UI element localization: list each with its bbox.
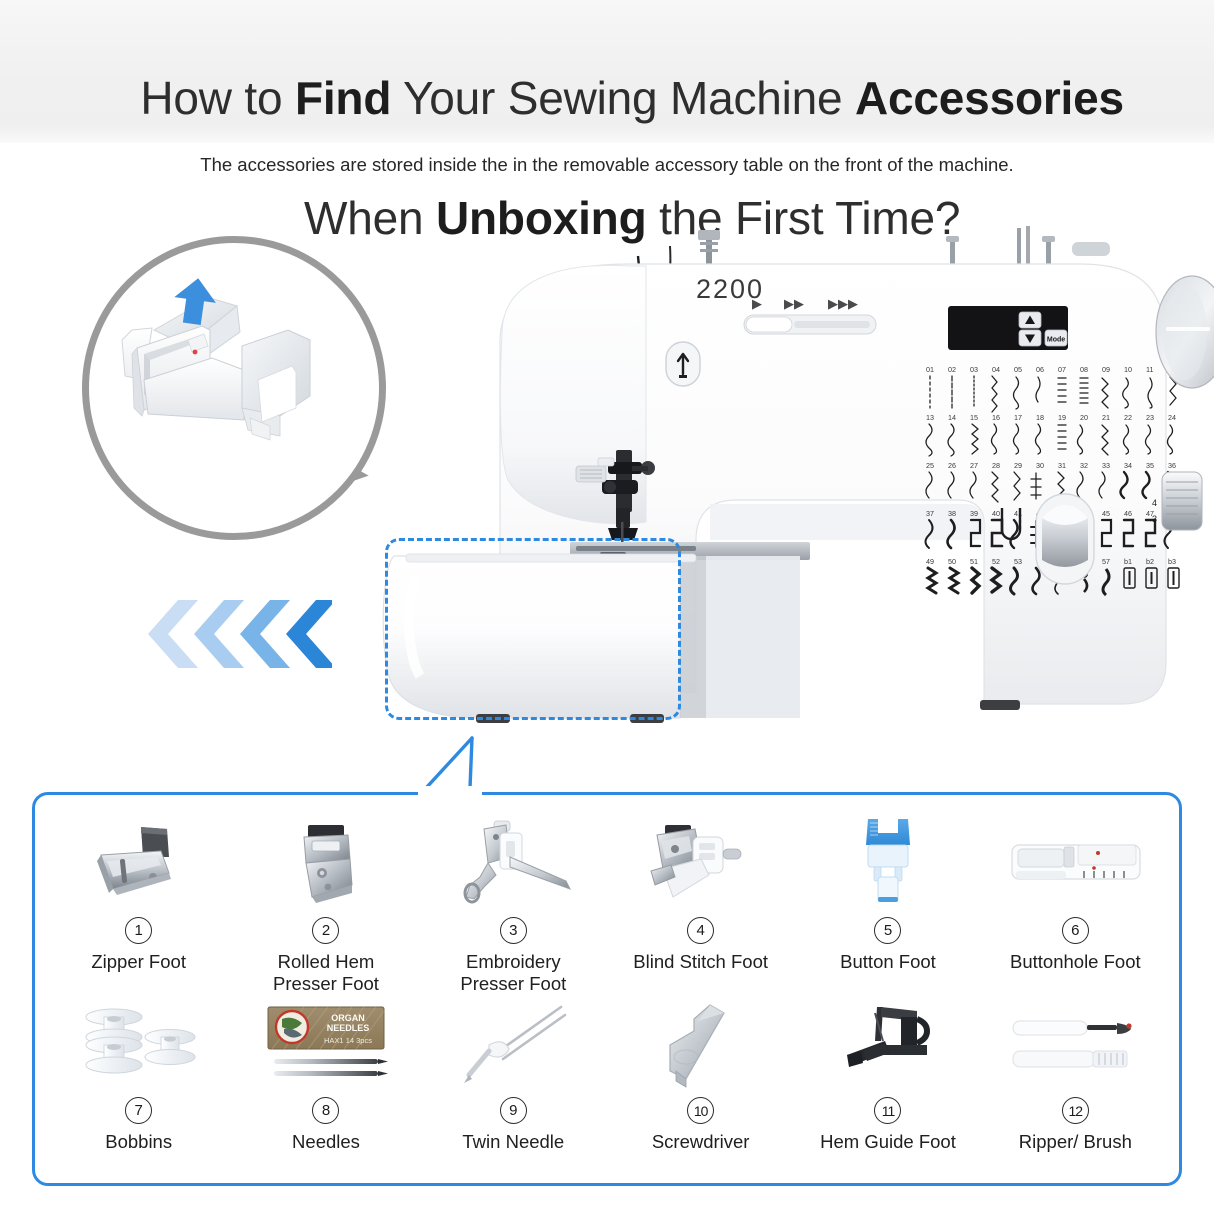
svg-text:b3: b3 bbox=[1168, 557, 1176, 566]
button-foot-icon bbox=[848, 813, 928, 913]
ripper-brush-icon bbox=[1005, 1001, 1145, 1093]
svg-text:3: 3 bbox=[1152, 514, 1157, 524]
accessory-label-2: Rolled Hem Presser Foot bbox=[273, 951, 379, 995]
buttonhole-foot-icon bbox=[1002, 813, 1148, 913]
chevron-2 bbox=[194, 600, 244, 668]
accessory-tray-illustration bbox=[92, 268, 362, 488]
blind-stitch-foot-icon bbox=[637, 813, 765, 913]
accessory-label-5: Button Foot bbox=[840, 951, 936, 973]
svg-text:05: 05 bbox=[1014, 365, 1022, 374]
title-line-1: How to Find Your Sewing Machine Accessor… bbox=[140, 72, 1124, 124]
svg-text:b2: b2 bbox=[1146, 557, 1154, 566]
accessory-label-9: Twin Needle bbox=[462, 1131, 564, 1153]
svg-text:53: 53 bbox=[1014, 557, 1022, 566]
svg-text:20: 20 bbox=[1080, 413, 1088, 422]
direction-chevrons bbox=[132, 598, 332, 670]
svg-text:30: 30 bbox=[1036, 461, 1044, 470]
accessory-number-11: 11 bbox=[874, 1097, 901, 1124]
accessory-label-11: Hem Guide Foot bbox=[820, 1131, 956, 1153]
svg-text:57: 57 bbox=[1102, 557, 1110, 566]
svg-text:14: 14 bbox=[948, 413, 956, 422]
chevron-4 bbox=[286, 600, 332, 668]
svg-text:35: 35 bbox=[1146, 461, 1154, 470]
accessory-item-9[interactable]: 9 Twin Needle bbox=[420, 995, 607, 1173]
accessory-number-9: 9 bbox=[500, 1097, 527, 1124]
svg-text:21: 21 bbox=[1102, 413, 1110, 422]
svg-text:11: 11 bbox=[1146, 365, 1153, 374]
seam-ripper bbox=[1013, 1021, 1132, 1035]
accessory-label-12: Ripper/ Brush bbox=[1019, 1131, 1132, 1153]
accessory-item-7[interactable]: 7 Bobbins bbox=[45, 995, 232, 1173]
needle-brand: ORGAN bbox=[331, 1013, 365, 1023]
chevron-3 bbox=[240, 600, 290, 668]
svg-text:51: 51 bbox=[970, 557, 978, 566]
svg-text:37: 37 bbox=[926, 509, 934, 518]
accessory-label-7: Bobbins bbox=[105, 1131, 172, 1153]
svg-text:27: 27 bbox=[970, 461, 978, 470]
svg-text:50: 50 bbox=[948, 557, 956, 566]
svg-text:17: 17 bbox=[1014, 413, 1022, 422]
svg-text:29: 29 bbox=[1014, 461, 1022, 470]
needles-box-icon: ORGAN NEEDLES HAX1 14 3pcs bbox=[256, 1001, 396, 1093]
svg-text:▶▶▶: ▶▶▶ bbox=[828, 296, 858, 311]
needle-spec: HAX1 14 3pcs bbox=[324, 1036, 372, 1045]
svg-text:09: 09 bbox=[1102, 365, 1110, 374]
svg-text:31: 31 bbox=[1058, 461, 1066, 470]
title-seg-accessories: Accessories bbox=[855, 72, 1124, 124]
accessory-label-10: Screwdriver bbox=[652, 1131, 750, 1153]
accessory-item-3[interactable]: 3 Embroidery Presser Foot bbox=[420, 807, 607, 995]
accessory-table-highlight bbox=[385, 538, 681, 720]
accessories-grid: 1 Zipper Foot bbox=[35, 795, 1179, 1183]
svg-text:01: 01 bbox=[926, 365, 934, 374]
svg-text:24: 24 bbox=[1168, 413, 1176, 422]
spool-pins bbox=[698, 226, 1110, 270]
svg-text:03: 03 bbox=[970, 365, 978, 374]
svg-text:13: 13 bbox=[926, 413, 934, 422]
svg-text:02: 02 bbox=[948, 365, 956, 374]
svg-text:18: 18 bbox=[1036, 413, 1044, 422]
hem-guide-foot-icon bbox=[823, 1001, 953, 1093]
svg-text:34: 34 bbox=[1124, 461, 1132, 470]
svg-text:39: 39 bbox=[970, 509, 978, 518]
needle-position-button bbox=[666, 342, 700, 386]
svg-text:04: 04 bbox=[992, 365, 1000, 374]
embroidery-foot-icon bbox=[448, 813, 578, 913]
svg-text:▶▶: ▶▶ bbox=[784, 296, 804, 311]
svg-text:25: 25 bbox=[926, 461, 934, 470]
accessory-number-6: 6 bbox=[1062, 917, 1089, 944]
accessory-number-7: 7 bbox=[125, 1097, 152, 1124]
svg-text:36: 36 bbox=[1168, 461, 1176, 470]
title-seg-2: Your Sewing Machine bbox=[391, 72, 855, 124]
accessory-item-2[interactable]: 2 Rolled Hem Presser Foot bbox=[232, 807, 419, 995]
mode-button-label: Mode bbox=[1047, 337, 1065, 344]
accessory-item-4[interactable]: 4 Blind Stitch Foot bbox=[607, 807, 794, 995]
screwdriver-icon bbox=[646, 1001, 756, 1093]
svg-text:33: 33 bbox=[1102, 461, 1110, 470]
accessory-label-6: Buttonhole Foot bbox=[1010, 951, 1141, 973]
svg-text:19: 19 bbox=[1058, 413, 1066, 422]
accessory-number-3: 3 bbox=[500, 917, 527, 944]
lcd-display-panel: Mode bbox=[948, 306, 1068, 350]
rolled-hem-foot-icon bbox=[278, 813, 374, 913]
svg-text:06: 06 bbox=[1036, 365, 1044, 374]
accessory-label-3: Embroidery Presser Foot bbox=[460, 951, 566, 995]
chevron-1 bbox=[148, 600, 198, 668]
subtitle: The accessories are stored inside the in… bbox=[0, 152, 1214, 178]
twin-needle-icon bbox=[453, 1001, 573, 1093]
zipper-foot-icon bbox=[83, 813, 195, 913]
title-seg-1: How to bbox=[140, 72, 295, 124]
needle-pair bbox=[274, 1059, 388, 1076]
svg-text:49: 49 bbox=[926, 557, 934, 566]
svg-text:28: 28 bbox=[992, 461, 1000, 470]
panel-pointer-notch bbox=[418, 786, 482, 800]
accessory-number-5: 5 bbox=[874, 917, 901, 944]
accessory-label-1: Zipper Foot bbox=[91, 951, 186, 973]
accessory-label-8: Needles bbox=[292, 1131, 360, 1153]
accessory-label-4: Blind Stitch Foot bbox=[633, 951, 768, 973]
needle-brand-line2: NEEDLES bbox=[327, 1023, 370, 1033]
bobbins-icon bbox=[74, 1001, 204, 1093]
accessory-number-12: 12 bbox=[1062, 1097, 1089, 1124]
svg-text:23: 23 bbox=[1146, 413, 1154, 422]
svg-text:4: 4 bbox=[1152, 498, 1157, 508]
bobbin-stack bbox=[86, 1009, 142, 1073]
accessory-number-2: 2 bbox=[312, 917, 339, 944]
reverse-lever bbox=[1036, 494, 1094, 584]
svg-text:16: 16 bbox=[992, 413, 1000, 422]
bobbin-single bbox=[145, 1030, 195, 1065]
accessory-number-4: 4 bbox=[687, 917, 714, 944]
svg-text:38: 38 bbox=[948, 509, 956, 518]
accessory-number-10: 10 bbox=[687, 1097, 714, 1124]
svg-text:15: 15 bbox=[970, 413, 978, 422]
accessory-item-12[interactable]: 12 Ripper/ Brush bbox=[982, 995, 1169, 1173]
accessory-item-1[interactable]: 1 Zipper Foot bbox=[45, 807, 232, 995]
svg-text:45: 45 bbox=[1102, 509, 1110, 518]
accessory-item-5[interactable]: 5 Button Foot bbox=[794, 807, 981, 995]
svg-text:07: 07 bbox=[1058, 365, 1066, 374]
accessory-item-6[interactable]: 6 Buttonhole Foot bbox=[982, 807, 1169, 995]
svg-text:40: 40 bbox=[992, 509, 1000, 518]
svg-text:10: 10 bbox=[1124, 365, 1132, 374]
svg-text:26: 26 bbox=[948, 461, 956, 470]
svg-text:▶: ▶ bbox=[752, 296, 762, 311]
accessories-panel: 1 Zipper Foot bbox=[32, 792, 1182, 1186]
svg-text:b1: b1 bbox=[1124, 557, 1132, 566]
accessory-number-1: 1 bbox=[125, 917, 152, 944]
svg-text:08: 08 bbox=[1080, 365, 1088, 374]
title-seg-find: Find bbox=[295, 72, 391, 124]
accessory-item-8[interactable]: ORGAN NEEDLES HAX1 14 3pcs 8 Needles bbox=[232, 995, 419, 1173]
infographic-page: How to Find Your Sewing Machine Accessor… bbox=[0, 0, 1214, 1214]
svg-text:32: 32 bbox=[1080, 461, 1088, 470]
svg-text:52: 52 bbox=[992, 557, 1000, 566]
accessory-number-8: 8 bbox=[312, 1097, 339, 1124]
lint-brush bbox=[1013, 1051, 1127, 1067]
accessory-item-11[interactable]: 11 Hem Guide Foot bbox=[794, 995, 981, 1173]
accessory-item-10[interactable]: 10 Screwdriver bbox=[607, 995, 794, 1173]
svg-text:46: 46 bbox=[1124, 509, 1132, 518]
svg-text:22: 22 bbox=[1124, 413, 1132, 422]
